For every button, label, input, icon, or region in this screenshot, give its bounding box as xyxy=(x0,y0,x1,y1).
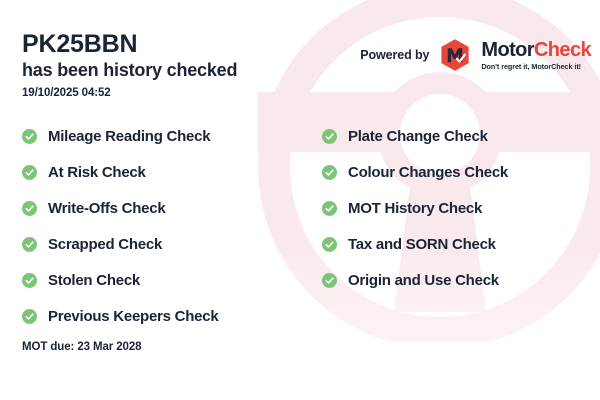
check-label: Origin and Use Check xyxy=(348,272,499,289)
checks-column-left: Mileage Reading Check At Risk Check Writ… xyxy=(22,118,322,334)
checks-column-right: Plate Change Check Colour Changes Check … xyxy=(322,118,580,334)
green-check-circle-icon xyxy=(322,129,337,144)
check-timestamp: 19/10/2025 04:52 xyxy=(22,87,237,99)
green-check-circle-icon xyxy=(22,165,37,180)
page-title: PK25BBN xyxy=(22,30,237,59)
wordmark-motor: Motor xyxy=(481,39,534,61)
list-item: At Risk Check xyxy=(22,154,322,190)
list-item: Write-Offs Check xyxy=(22,190,322,226)
list-item: Colour Changes Check xyxy=(322,154,580,190)
list-item: Tax and SORN Check xyxy=(322,226,580,262)
history-check-summary-card: PK25BBN has been history checked 19/10/2… xyxy=(0,0,600,400)
list-item: Scrapped Check xyxy=(22,226,322,262)
list-item: MOT History Check xyxy=(322,190,580,226)
green-check-circle-icon xyxy=(22,201,37,216)
green-check-circle-icon xyxy=(22,129,37,144)
green-check-circle-icon xyxy=(322,273,337,288)
check-label: Colour Changes Check xyxy=(348,164,508,181)
check-label: Mileage Reading Check xyxy=(48,128,210,145)
brand-lockup: Powered by MotorCheck Don't regret it, M… xyxy=(360,38,591,72)
header-subtitle: has been history checked xyxy=(22,60,237,82)
list-item: Previous Keepers Check xyxy=(22,298,322,334)
wordmark-check: Check xyxy=(534,39,591,61)
list-item: Mileage Reading Check xyxy=(22,118,322,154)
check-label: MOT History Check xyxy=(348,200,482,217)
list-item: Origin and Use Check xyxy=(322,262,580,298)
check-label: Scrapped Check xyxy=(48,236,162,253)
motorcheck-hexagon-logo-icon xyxy=(438,38,472,72)
check-label: At Risk Check xyxy=(48,164,146,181)
green-check-circle-icon xyxy=(22,237,37,252)
green-check-circle-icon xyxy=(322,237,337,252)
green-check-circle-icon xyxy=(322,165,337,180)
green-check-circle-icon xyxy=(22,273,37,288)
check-label: Plate Change Check xyxy=(348,128,488,145)
motorcheck-wordmark: MotorCheck Don't regret it, MotorCheck i… xyxy=(481,40,591,70)
green-check-circle-icon xyxy=(22,309,37,324)
wordmark-text: MotorCheck xyxy=(481,40,591,60)
brand-tagline: Don't regret it, MotorCheck it! xyxy=(481,63,591,70)
list-item: Plate Change Check xyxy=(322,118,580,154)
check-label: Write-Offs Check xyxy=(48,200,165,217)
card-header: PK25BBN has been history checked 19/10/2… xyxy=(22,30,237,99)
green-check-circle-icon xyxy=(322,201,337,216)
checks-container: Mileage Reading Check At Risk Check Writ… xyxy=(22,118,580,334)
check-label: Previous Keepers Check xyxy=(48,308,218,325)
list-item: Stolen Check xyxy=(22,262,322,298)
check-label: Stolen Check xyxy=(48,272,140,289)
powered-by-label: Powered by xyxy=(360,48,429,62)
mot-due-label: MOT due: 23 Mar 2028 xyxy=(22,341,141,353)
check-label: Tax and SORN Check xyxy=(348,236,496,253)
